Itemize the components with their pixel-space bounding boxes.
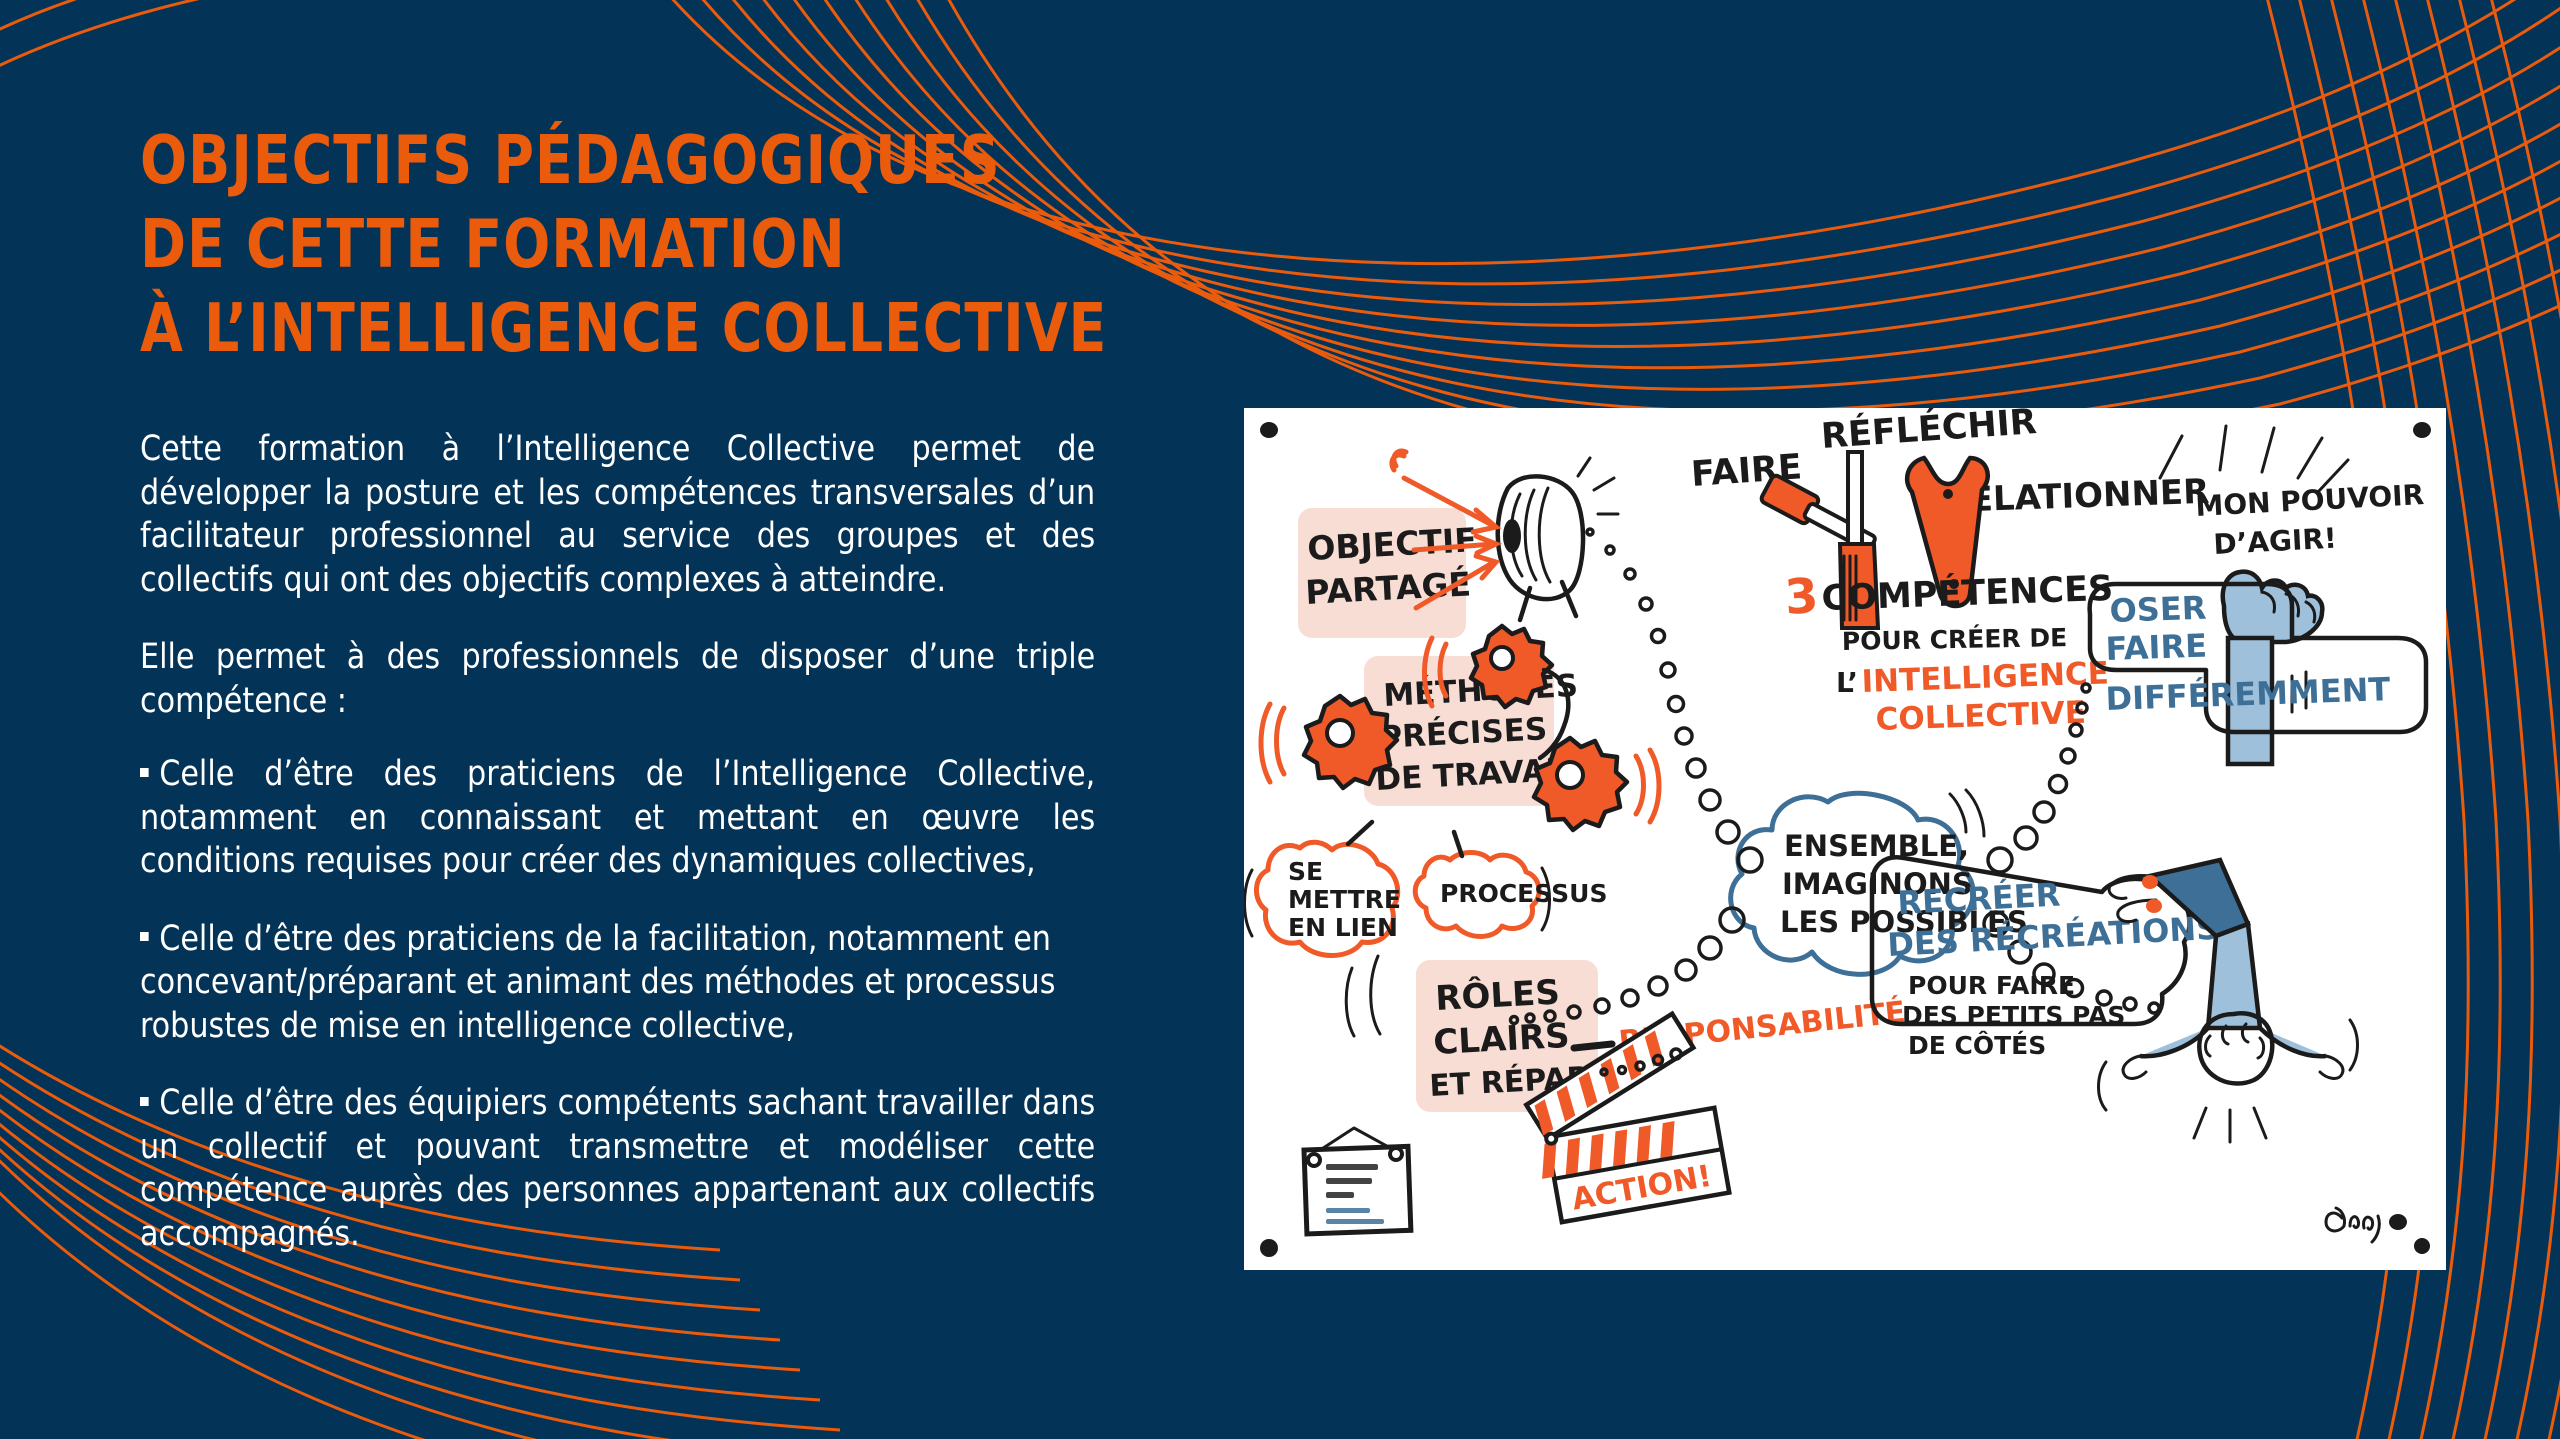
wave-top-left [0,0,356,96]
svg-text:PROCESSUS: PROCESSUS [1440,879,1607,908]
magnet-dot [1260,1239,1278,1257]
svg-text:POUR CRÉER DE: POUR CRÉER DE [1842,623,2068,656]
bullet-item-3-text: Celle d’être des équipiers compétents sa… [140,1083,1095,1254]
bullet-item-2: Celle d’être des praticiens de la facili… [140,918,1095,1049]
sketchnote-illustration: .hw { font-family:"DejaVu Sans", sans-se… [1244,408,2446,1270]
paragraph-intro: Cette formation à l’Intelligence Collect… [140,428,1095,602]
slide-root: OBJECTIFS PÉDAGOGIQUES DE CETTE FORMATIO… [0,0,2560,1439]
svg-text:OSER: OSER [2109,589,2207,630]
svg-text:POUR FAIRE: POUR FAIRE [1908,971,2075,1000]
svg-text:COLLECTIVE: COLLECTIVE [1875,695,2087,738]
svg-text:RÔLES: RÔLES [1434,972,1560,1019]
svg-text:CLAIRS: CLAIRS [1432,1016,1570,1063]
bullet-item-1-text: Celle d’être des praticiens de l’Intelli… [140,754,1095,881]
svg-text:FAIRE: FAIRE [2105,626,2208,668]
bullet-marker-icon [140,768,149,777]
svg-text:SE: SE [1288,857,1323,886]
svg-text:L’: L’ [1836,666,1858,699]
illustration-card: .hw { font-family:"DejaVu Sans", sans-se… [1244,408,2446,1270]
body-copy: Cette formation à l’Intelligence Collect… [140,428,1095,1290]
title-line-1: OBJECTIFS PÉDAGOGIQUES [140,118,1134,202]
svg-text:METTRE: METTRE [1288,885,1401,914]
svg-text:ENSEMBLE,: ENSEMBLE, [1784,829,1969,863]
paragraph-triple-competence: Elle permet à des professionnels de disp… [140,636,1095,723]
svg-text:EN LIEN: EN LIEN [1288,913,1398,942]
bullet-item-3: Celle d’être des équipiers compétents sa… [140,1082,1095,1256]
magnet-dot [2414,1238,2430,1254]
title-line-2: DE CETTE FORMATION [140,202,1134,286]
bullet-marker-icon [140,1097,149,1106]
svg-text:D’AGIR!: D’AGIR! [2213,522,2338,561]
bullet-item-1: Celle d’être des praticiens de l’Intelli… [140,753,1095,884]
svg-text:3: 3 [1783,568,1820,626]
title-line-3: À L’INTELLIGENCE COLLECTIVE [140,286,1134,370]
magnet-dot [2413,422,2431,438]
svg-text:DES PETITS PAS: DES PETITS PAS [1902,1001,2125,1030]
page-title: OBJECTIFS PÉDAGOGIQUES DE CETTE FORMATIO… [140,118,1220,370]
svg-text:DE CÔTÉS: DE CÔTÉS [1908,1030,2046,1060]
bullet-item-2-text: Celle d’être des praticiens de la facili… [140,919,1055,1046]
bullet-marker-icon [140,932,149,941]
magnet-dot [1260,422,1278,438]
